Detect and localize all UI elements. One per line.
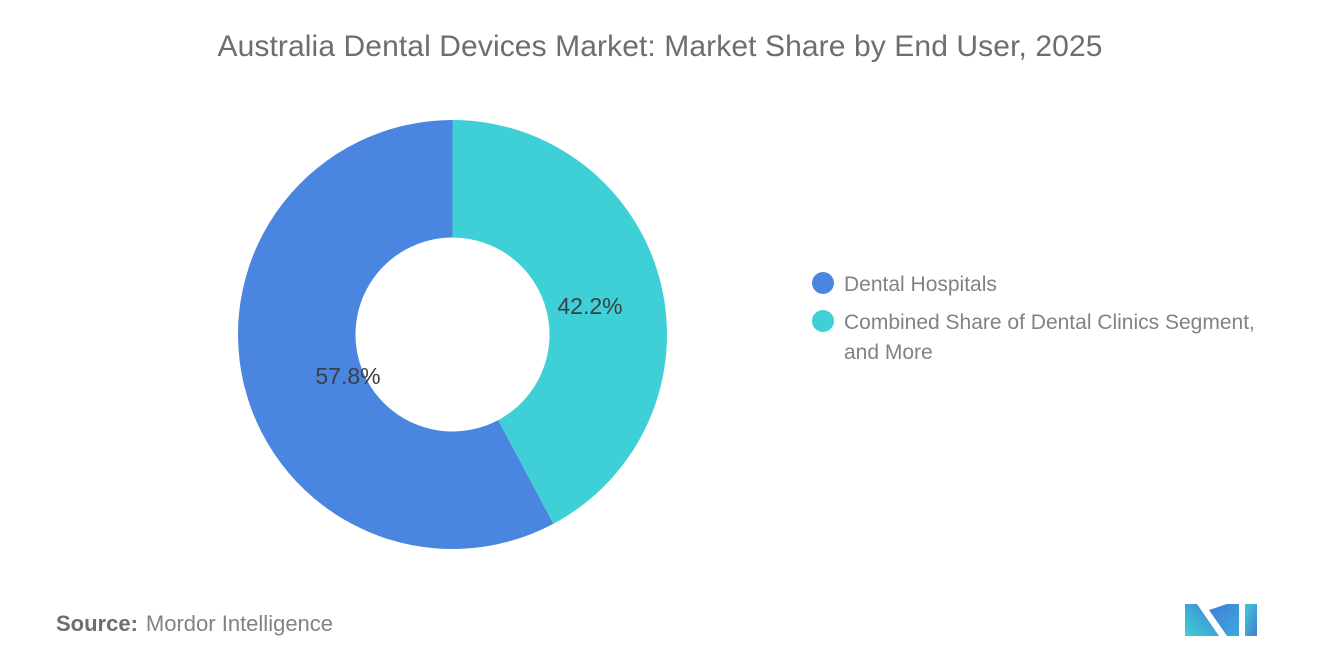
- chart-legend: Dental Hospitals Combined Share of Denta…: [812, 270, 1292, 376]
- legend-item-dental-hospitals[interactable]: Dental Hospitals: [812, 270, 1292, 300]
- page-title: Australia Dental Devices Market: Market …: [0, 30, 1320, 64]
- slice-label-dental-hospitals: 57.8%: [315, 363, 380, 389]
- mordor-intelligence-logo: [1183, 596, 1259, 638]
- slice-label-dental-clinics-combined: 42.2%: [557, 293, 622, 319]
- donut-chart: 57.8% 42.2%: [238, 120, 667, 549]
- legend-item-label: Dental Hospitals: [844, 270, 997, 300]
- legend-item-label: Combined Share of Dental Clinics Segment…: [844, 308, 1292, 368]
- legend-color-swatch-blue: [812, 272, 834, 294]
- source-label: Source:: [56, 611, 138, 636]
- source-value: Mordor Intelligence: [146, 611, 333, 636]
- donut-chart-svg: 57.8% 42.2%: [238, 120, 667, 549]
- legend-color-swatch-teal: [812, 310, 834, 332]
- legend-item-dental-clinics-combined[interactable]: Combined Share of Dental Clinics Segment…: [812, 308, 1292, 368]
- mi-logo-icon: [1183, 596, 1259, 638]
- source-attribution: Source:Mordor Intelligence: [56, 611, 333, 637]
